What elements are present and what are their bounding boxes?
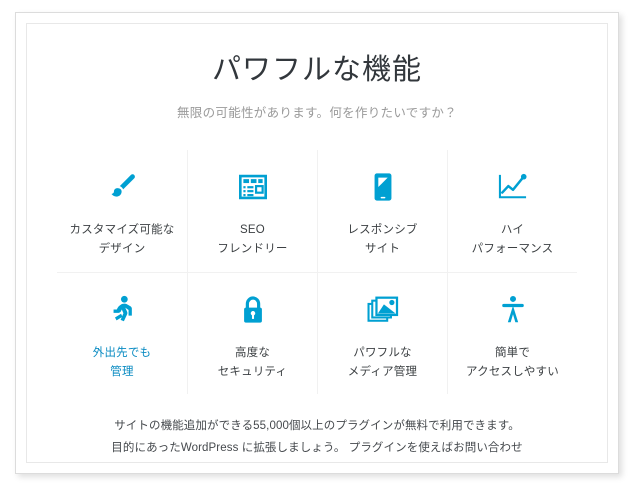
chart-growth-icon xyxy=(498,166,528,208)
feature-label-line1: SEO xyxy=(240,224,265,236)
footer-line-2: 目的にあったWordPress に拡張しましょう。 プラグインを使えばお問い合わ… xyxy=(47,438,587,459)
media-images-icon xyxy=(367,289,399,331)
feature-label: 高度な セキュリティ xyxy=(218,344,288,382)
feature-item-seo-friendly[interactable]: SEO フレンドリー xyxy=(187,150,317,272)
page-header: パワフルな機能 無限の可能性があります。何を作りたいですか？ xyxy=(27,24,607,121)
feature-label-line2: セキュリティ xyxy=(218,366,288,378)
feature-grid: カスタマイズ可能な デザイン xyxy=(57,150,577,394)
feature-label-line1: ハイ xyxy=(501,224,524,236)
feature-label-line2: パフォーマンス xyxy=(472,243,554,255)
running-person-icon xyxy=(109,289,135,331)
feature-label-line1: 外出先でも xyxy=(93,347,152,359)
paintbrush-icon xyxy=(107,166,137,208)
padlock-icon xyxy=(240,289,266,331)
feature-label-line1: 簡単で xyxy=(495,347,530,359)
feature-item-customizable-design[interactable]: カスタマイズ可能な デザイン xyxy=(57,150,187,272)
feature-label-line2: デザイン xyxy=(99,243,146,255)
feature-label-line2: 管理 xyxy=(110,366,133,378)
feature-label-line1: 高度な xyxy=(235,347,270,359)
feature-item-responsive-site[interactable]: レスポンシブ サイト xyxy=(317,150,447,272)
browser-frame: パワフルな機能 無限の可能性があります。何を作りたいですか？ カスタマイズ可能な… xyxy=(15,12,619,474)
feature-item-high-performance[interactable]: ハイ パフォーマンス xyxy=(447,150,577,272)
feature-item-advanced-security[interactable]: 高度な セキュリティ xyxy=(187,272,317,394)
page-subtitle: 無限の可能性があります。何を作りたいですか？ xyxy=(27,102,607,121)
footer-description: サイトの機能追加ができる55,000個以上のプラグインが無料で利用できます。 目… xyxy=(47,416,587,463)
feature-item-manage-on-the-go[interactable]: 外出先でも 管理 xyxy=(57,272,187,394)
seo-layout-icon xyxy=(239,166,267,208)
feature-label-line1: レスポンシブ xyxy=(347,224,417,236)
feature-label: パワフルな メディア管理 xyxy=(348,344,417,382)
feature-label-line1: カスタマイズ可能な xyxy=(70,224,175,236)
universal-access-icon xyxy=(500,289,526,331)
feature-label: 簡単で アクセスしやすい xyxy=(466,344,559,382)
page-title: パワフルな機能 xyxy=(27,52,607,88)
mobile-device-icon xyxy=(370,166,396,208)
footer-line-3: フォーム、EC サイト、ギャラリー、メーリングリストや掲示板、アクセス統計機 xyxy=(47,459,587,463)
feature-label-line2: フレンドリー xyxy=(217,243,287,255)
feature-label: カスタマイズ可能な デザイン xyxy=(70,221,175,259)
feature-label-line2: サイト xyxy=(365,243,400,255)
feature-label: 外出先でも 管理 xyxy=(93,344,152,382)
feature-label: SEO フレンドリー xyxy=(217,221,287,259)
feature-label-line2: アクセスしやすい xyxy=(466,366,559,378)
feature-label-line2: メディア管理 xyxy=(348,366,417,378)
feature-item-media-management[interactable]: パワフルな メディア管理 xyxy=(317,272,447,394)
footer-line-1: サイトの機能追加ができる55,000個以上のプラグインが無料で利用できます。 xyxy=(47,416,587,437)
feature-label-line1: パワフルな xyxy=(353,347,412,359)
feature-label: ハイ パフォーマンス xyxy=(472,221,554,259)
feature-label: レスポンシブ サイト xyxy=(347,221,417,259)
feature-item-accessibility[interactable]: 簡単で アクセスしやすい xyxy=(447,272,577,394)
content-card: パワフルな機能 無限の可能性があります。何を作りたいですか？ カスタマイズ可能な… xyxy=(26,23,608,463)
